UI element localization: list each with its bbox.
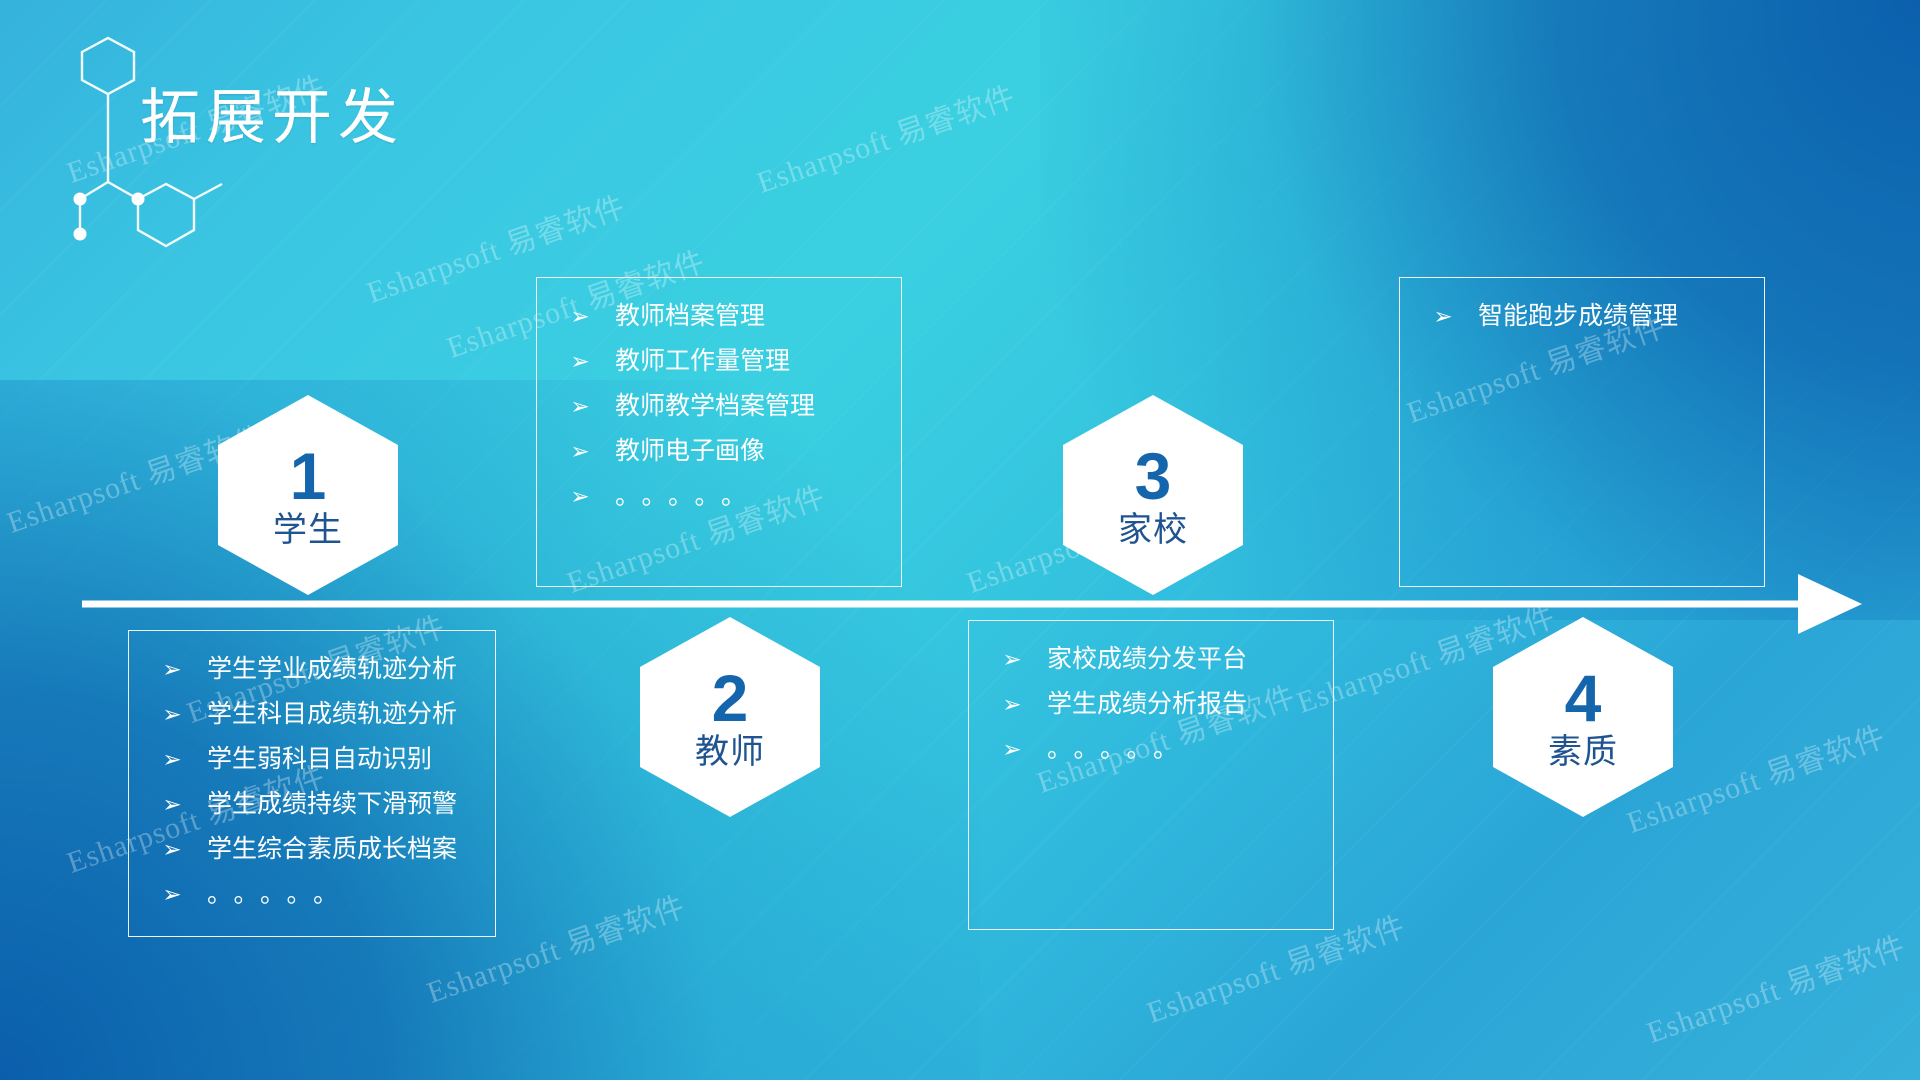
arrow-bullet-icon: ➢ xyxy=(563,485,597,508)
list-item: ➢。。。。。 xyxy=(563,484,883,509)
watermark-text: Esharpsoft 易睿软件 xyxy=(1640,922,1910,1052)
arrow-bullet-icon: ➢ xyxy=(995,738,1029,761)
timeline-node-3[interactable]: 3 家校 xyxy=(1063,395,1243,595)
arrow-bullet-icon: ➢ xyxy=(155,748,189,771)
list-item-label: 教师工作量管理 xyxy=(615,349,790,374)
list-item-label: 家校成绩分发平台 xyxy=(1047,647,1247,672)
list-item: ➢学生学业成绩轨迹分析 xyxy=(155,657,477,682)
arrow-bullet-icon: ➢ xyxy=(155,838,189,861)
list-item-label: 学生学业成绩轨迹分析 xyxy=(207,657,457,682)
list-item-label: 。。。。。 xyxy=(1047,737,1192,762)
list-item: ➢学生弱科目自动识别 xyxy=(155,747,477,772)
arrow-bullet-icon: ➢ xyxy=(563,440,597,463)
list-item: ➢学生综合素质成长档案 xyxy=(155,837,477,862)
list-item-label: 学生成绩持续下滑预警 xyxy=(207,792,457,817)
node-number: 1 xyxy=(290,443,327,509)
node-caption: 学生 xyxy=(273,513,343,547)
list-item-label: 。。。。。 xyxy=(207,882,352,907)
arrow-bullet-icon: ➢ xyxy=(563,305,597,328)
list-item-label: 智能跑步成绩管理 xyxy=(1478,304,1678,329)
node-caption: 教师 xyxy=(695,735,765,769)
arrow-bullet-icon: ➢ xyxy=(1426,305,1460,328)
timeline-node-1[interactable]: 1 学生 xyxy=(218,395,398,595)
list-item: ➢学生成绩分析报告 xyxy=(995,692,1315,717)
list-item: ➢学生科目成绩轨迹分析 xyxy=(155,702,477,727)
list-item: ➢教师电子画像 xyxy=(563,439,883,464)
content-box-home-school: ➢家校成绩分发平台➢学生成绩分析报告➢。。。。。 xyxy=(968,620,1334,930)
node-number: 4 xyxy=(1565,665,1602,731)
arrow-bullet-icon: ➢ xyxy=(155,793,189,816)
content-box-teacher: ➢教师档案管理➢教师工作量管理➢教师教学档案管理➢教师电子画像➢。。。。。 xyxy=(536,277,902,587)
arrow-bullet-icon: ➢ xyxy=(155,703,189,726)
list-item-label: 学生成绩分析报告 xyxy=(1047,692,1247,717)
watermark-text: Esharpsoft 易睿软件 xyxy=(750,72,1020,202)
arrow-bullet-icon: ➢ xyxy=(155,883,189,906)
page-title: 拓展开发 xyxy=(140,88,404,148)
list-item: ➢教师教学档案管理 xyxy=(563,394,883,419)
list-item-label: 。。。。。 xyxy=(615,484,760,509)
feature-list-teacher: ➢教师档案管理➢教师工作量管理➢教师教学档案管理➢教师电子画像➢。。。。。 xyxy=(563,304,883,509)
feature-list-student: ➢学生学业成绩轨迹分析➢学生科目成绩轨迹分析➢学生弱科目自动识别➢学生成绩持续下… xyxy=(155,657,477,907)
arrow-bullet-icon: ➢ xyxy=(995,693,1029,716)
list-item: ➢。。。。。 xyxy=(155,882,477,907)
list-item-label: 教师电子画像 xyxy=(615,439,765,464)
list-item-label: 学生科目成绩轨迹分析 xyxy=(207,702,457,727)
list-item-label: 学生综合素质成长档案 xyxy=(207,837,457,862)
list-item: ➢教师工作量管理 xyxy=(563,349,883,374)
list-item-label: 教师教学档案管理 xyxy=(615,394,815,419)
list-item: ➢智能跑步成绩管理 xyxy=(1426,304,1746,329)
list-item: ➢教师档案管理 xyxy=(563,304,883,329)
list-item: ➢。。。。。 xyxy=(995,737,1315,762)
node-number: 2 xyxy=(712,665,749,731)
node-number: 3 xyxy=(1135,443,1172,509)
arrow-bullet-icon: ➢ xyxy=(563,395,597,418)
list-item: ➢学生成绩持续下滑预警 xyxy=(155,792,477,817)
timeline-node-2[interactable]: 2 教师 xyxy=(640,617,820,817)
content-box-student: ➢学生学业成绩轨迹分析➢学生科目成绩轨迹分析➢学生弱科目自动识别➢学生成绩持续下… xyxy=(128,630,496,937)
slide-canvas: Esharpsoft 易睿软件Esharpsoft 易睿软件Esharpsoft… xyxy=(0,0,1920,1080)
list-item-label: 学生弱科目自动识别 xyxy=(207,747,432,772)
node-caption: 家校 xyxy=(1118,513,1188,547)
node-caption: 素质 xyxy=(1548,735,1618,769)
arrow-bullet-icon: ➢ xyxy=(995,648,1029,671)
content-box-quality: ➢智能跑步成绩管理 xyxy=(1399,277,1765,587)
timeline-node-4[interactable]: 4 素质 xyxy=(1493,617,1673,817)
list-item-label: 教师档案管理 xyxy=(615,304,765,329)
arrow-bullet-icon: ➢ xyxy=(155,658,189,681)
list-item: ➢家校成绩分发平台 xyxy=(995,647,1315,672)
feature-list-home-school: ➢家校成绩分发平台➢学生成绩分析报告➢。。。。。 xyxy=(995,647,1315,762)
feature-list-quality: ➢智能跑步成绩管理 xyxy=(1426,304,1746,329)
arrow-bullet-icon: ➢ xyxy=(563,350,597,373)
